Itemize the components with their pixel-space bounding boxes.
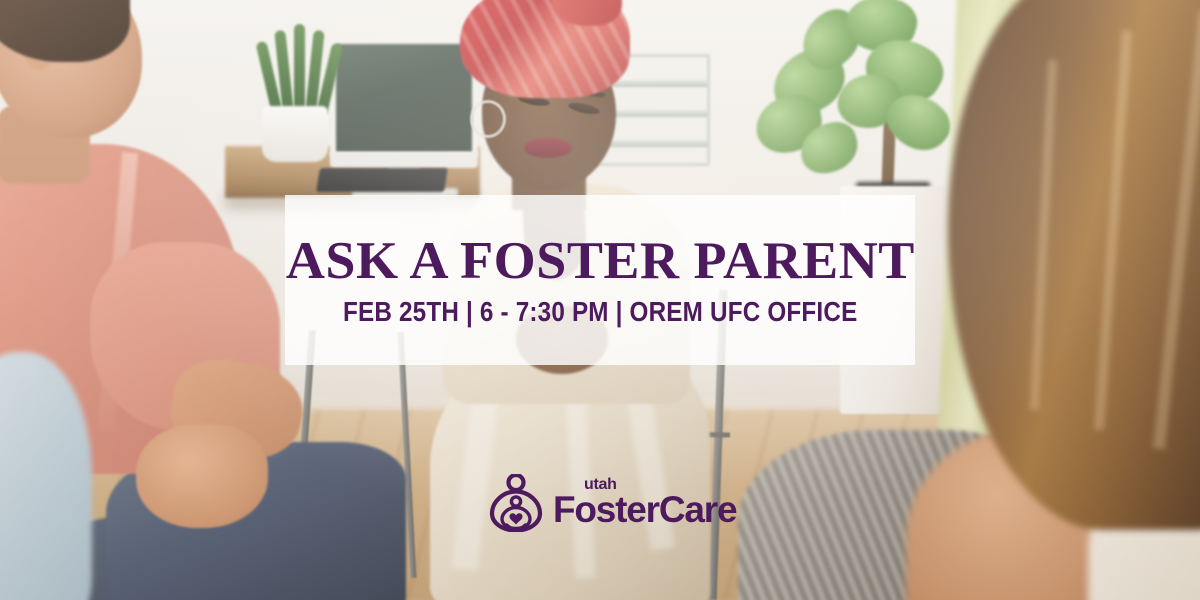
event-banner: ASK A FOSTER PARENT FEB 25TH | 6 - 7:30 …	[0, 0, 1200, 600]
man-hair	[0, 0, 130, 62]
parent-child-heart-icon	[488, 474, 544, 532]
event-details-line: FEB 25TH | 6 - 7:30 PM | OREM UFC OFFICE	[343, 299, 857, 327]
event-text-card: ASK A FOSTER PARENT FEB 25TH | 6 - 7:30 …	[285, 195, 915, 365]
logo-utah-text: utah	[584, 477, 617, 493]
person-right-foreground	[908, 0, 1200, 600]
logo-fostercare-text: FosterCare	[553, 478, 736, 528]
page-title: ASK A FOSTER PARENT	[285, 235, 914, 288]
man-clasped-hands	[136, 424, 268, 528]
logo-wordmark: utah FosterCare	[553, 478, 736, 528]
utah-foster-care-logo: utah FosterCare	[488, 474, 736, 532]
woman-lips	[524, 138, 572, 158]
hoop-earring-icon	[470, 100, 506, 138]
